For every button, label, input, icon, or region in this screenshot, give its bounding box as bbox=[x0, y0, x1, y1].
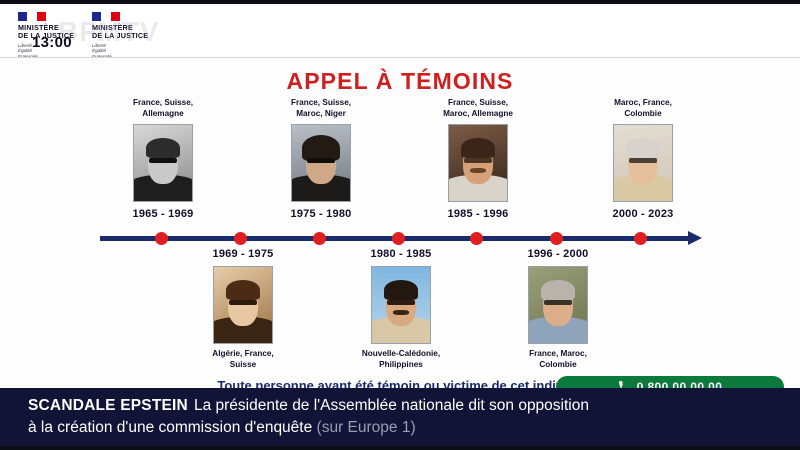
portrait-glasses bbox=[464, 158, 492, 163]
portrait-hair bbox=[461, 138, 495, 158]
portrait-glasses bbox=[307, 158, 335, 163]
timeline-dot bbox=[313, 232, 326, 245]
portrait-hair bbox=[384, 280, 418, 300]
banner-headline-2: à la création d'une commission d'enquête bbox=[28, 419, 312, 436]
letterbox-bottom bbox=[0, 446, 800, 450]
portrait-moustache bbox=[470, 168, 485, 173]
portrait-photo bbox=[448, 124, 508, 202]
portrait-hair bbox=[541, 280, 575, 300]
portrait-glasses bbox=[387, 300, 415, 305]
entry-years: 1969 - 1975 bbox=[213, 248, 274, 260]
portrait-photo bbox=[291, 124, 351, 202]
entry-countries: Maroc, France, Colombie bbox=[614, 98, 672, 119]
timeline-entry: France, Suisse, Allemagne1965 - 1969 bbox=[101, 98, 225, 220]
french-flag-icon bbox=[18, 12, 46, 21]
channel-watermark: BFMTV bbox=[58, 16, 159, 48]
portrait-hair bbox=[226, 280, 260, 300]
timeline-dot bbox=[234, 232, 247, 245]
banner-line-2: à la création d'une commission d'enquête… bbox=[28, 417, 778, 439]
entry-countries: France, Maroc, Colombie bbox=[529, 349, 587, 370]
portrait-photo bbox=[613, 124, 673, 202]
timeline-entry: Maroc, France, Colombie2000 - 2023 bbox=[581, 98, 705, 220]
banner-line-1: SCANDALE EPSTEINLa présidente de l'Assem… bbox=[28, 395, 778, 417]
banner-source: (sur Europe 1) bbox=[317, 419, 416, 436]
tv-screen: MINISTÈRE DE LA JUSTICE Liberté Égalité … bbox=[0, 0, 800, 450]
entry-years: 1996 - 2000 bbox=[528, 248, 589, 260]
entry-countries: Algérie, France, Suisse bbox=[212, 349, 273, 370]
portrait-glasses bbox=[229, 300, 257, 305]
portrait-glasses bbox=[544, 300, 572, 305]
letterbox-top bbox=[0, 0, 800, 4]
portrait-glasses bbox=[629, 158, 657, 163]
entry-years: 1975 - 1980 bbox=[291, 208, 352, 220]
entry-countries: Nouvelle-Calédonie, Philippines bbox=[362, 349, 440, 370]
entry-years: 1985 - 1996 bbox=[448, 208, 509, 220]
timeline-dot bbox=[550, 232, 563, 245]
timeline-arrow-icon bbox=[688, 231, 702, 245]
entry-years: 1980 - 1985 bbox=[371, 248, 432, 260]
timeline-dot bbox=[470, 232, 483, 245]
entry-years: 2000 - 2023 bbox=[613, 208, 674, 220]
page-title: APPEL À TÉMOINS bbox=[0, 68, 800, 95]
timeline-entry: 1996 - 2000France, Maroc, Colombie bbox=[496, 248, 620, 370]
entry-countries: France, Suisse, Maroc, Niger bbox=[291, 98, 351, 119]
timeline-entry: 1969 - 1975Algérie, France, Suisse bbox=[181, 248, 305, 370]
entry-countries: France, Suisse, Maroc, Allemagne bbox=[443, 98, 513, 119]
entry-years: 1965 - 1969 bbox=[133, 208, 194, 220]
banner-headline-1: La présidente de l'Assemblée nationale d… bbox=[194, 397, 589, 414]
portrait-hair bbox=[146, 138, 180, 158]
timeline-dot bbox=[634, 232, 647, 245]
portrait-hair bbox=[302, 135, 340, 161]
timeline-dot bbox=[392, 232, 405, 245]
timeline-dot bbox=[155, 232, 168, 245]
timeline-entry: 1980 - 1985Nouvelle-Calédonie, Philippin… bbox=[339, 248, 463, 370]
news-banner: SCANDALE EPSTEINLa présidente de l'Assem… bbox=[0, 388, 800, 446]
portrait-photo bbox=[371, 266, 431, 344]
banner-kicker: SCANDALE EPSTEIN bbox=[28, 397, 188, 414]
ministry-header: MINISTÈRE DE LA JUSTICE Liberté Égalité … bbox=[0, 4, 800, 58]
portrait-photo bbox=[213, 266, 273, 344]
entry-countries: France, Suisse, Allemagne bbox=[133, 98, 193, 119]
portrait-hair bbox=[626, 138, 660, 158]
timeline-entry: France, Suisse, Maroc, Allemagne1985 - 1… bbox=[416, 98, 540, 220]
portrait-glasses bbox=[149, 158, 177, 163]
broadcast-clock: 13:00 bbox=[32, 34, 72, 51]
timeline-entry: France, Suisse, Maroc, Niger1975 - 1980 bbox=[259, 98, 383, 220]
portrait-photo bbox=[528, 266, 588, 344]
portrait-photo bbox=[133, 124, 193, 202]
portrait-moustache bbox=[393, 310, 408, 315]
